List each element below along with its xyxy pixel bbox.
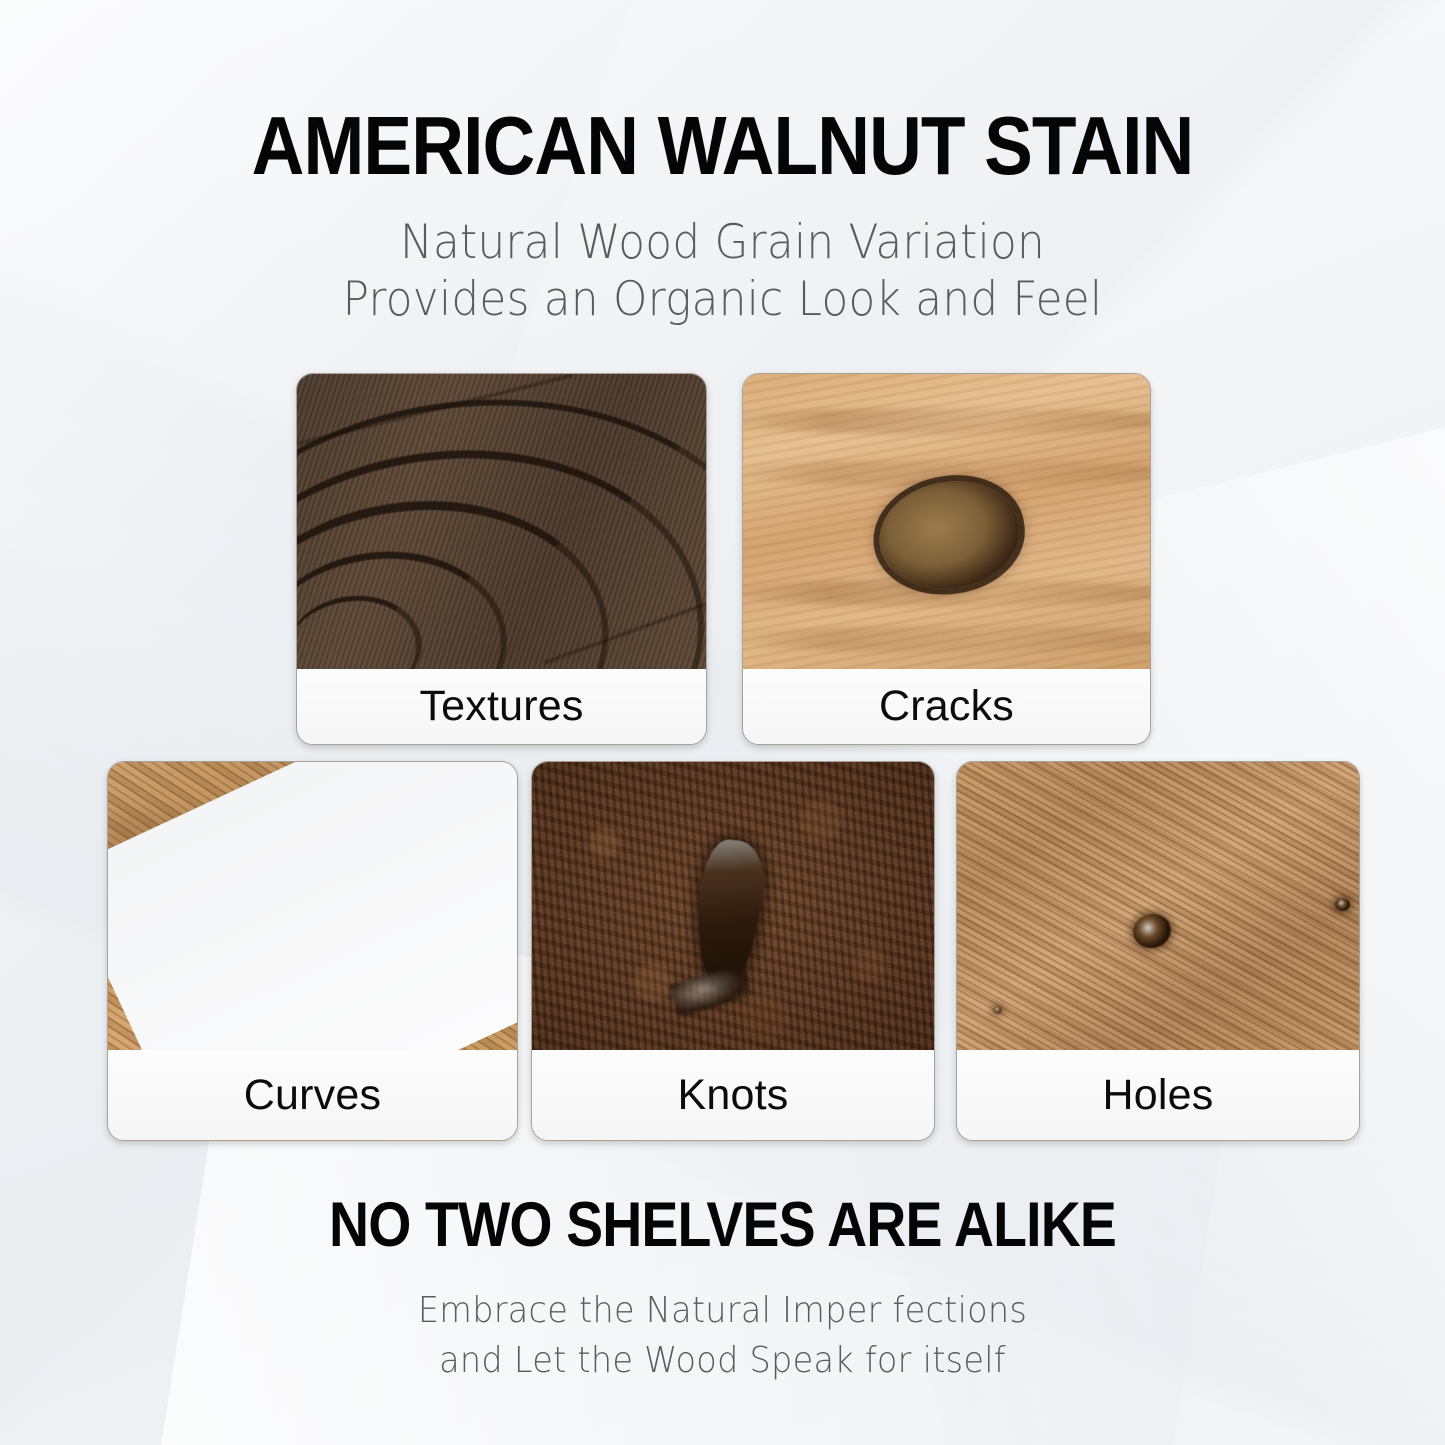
- feature-card-label-textures: Textures: [297, 669, 706, 744]
- wood-texture-golden-plank: [108, 762, 517, 1052]
- feature-photo-cracks: [743, 374, 1150, 671]
- hole-detail: [1129, 910, 1174, 952]
- feature-card-curves[interactable]: Curves: [107, 761, 518, 1141]
- page-title: AMERICAN WALNUT STAIN: [87, 104, 1359, 187]
- feature-photo-curves: [108, 762, 517, 1052]
- feature-card-textures[interactable]: Textures: [296, 373, 707, 745]
- infographic-poster: AMERICAN WALNUT STAIN Natural Wood Grain…: [0, 0, 1445, 1445]
- feature-photo-textures: [297, 374, 706, 671]
- feature-photo-knots: [532, 762, 934, 1052]
- knot-detail: [872, 473, 1025, 597]
- feature-card-label-knots: Knots: [532, 1050, 934, 1140]
- hole-detail: [993, 1006, 1002, 1014]
- hole-detail: [1335, 898, 1350, 911]
- footer-subtitle-line-1: Embrace the Natural Imper fections: [51, 1290, 1395, 1331]
- footer-title: NO TWO SHELVES ARE ALIKE: [87, 1194, 1359, 1257]
- wood-texture-dark-walnut: [297, 374, 706, 671]
- feature-card-knots[interactable]: Knots: [531, 761, 935, 1141]
- wood-texture-brown-diagonal: [957, 762, 1359, 1052]
- feature-card-label-cracks: Cracks: [743, 669, 1150, 744]
- footer-subtitle-line-2: and Let the Wood Speak for itself: [51, 1340, 1395, 1381]
- feature-photo-holes: [957, 762, 1359, 1052]
- feature-card-holes[interactable]: Holes: [956, 761, 1360, 1141]
- wood-texture-dark-mottled: [532, 762, 934, 1052]
- feature-card-cracks[interactable]: Cracks: [742, 373, 1151, 745]
- page-subtitle-line-2: Provides an Organic Look and Feel: [51, 272, 1395, 327]
- feature-card-label-curves: Curves: [108, 1050, 517, 1140]
- wood-texture-pale-tan: [743, 374, 1150, 671]
- page-subtitle-line-1: Natural Wood Grain Variation: [51, 215, 1395, 270]
- plank-edge-cut: [108, 762, 517, 1052]
- feature-card-label-holes: Holes: [957, 1050, 1359, 1140]
